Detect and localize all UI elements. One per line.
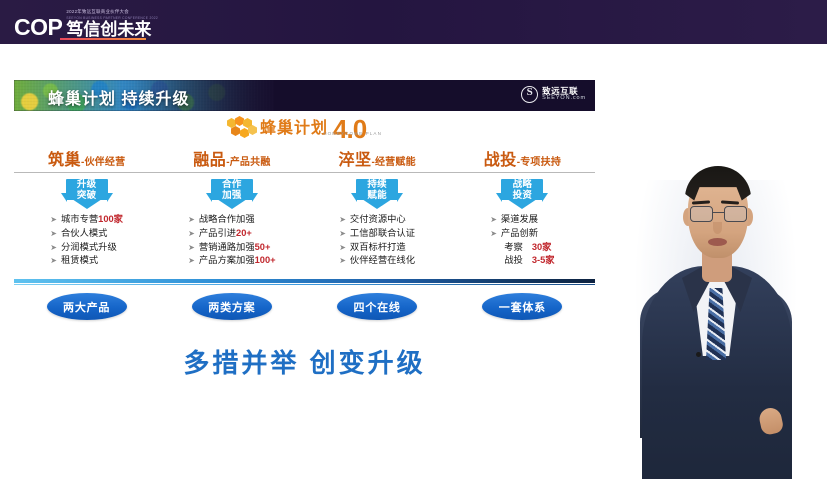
column-header-4-main: 战投 [484, 152, 517, 169]
seeyon-logo-text: 致远互联 SEEYON.com [542, 87, 586, 102]
chevron-bullet-icon: ➤ [188, 255, 195, 266]
bullet-list-3: ➤交付资源中心 ➤工信部联合认证 ➤双百标杆打造 ➤伙伴经营在线化 [339, 213, 415, 267]
badge-2-line2: 加强 [222, 190, 242, 201]
honeycomb-plan-title: 蜂巢计划 4.0 HONEYCOMB PLAN [14, 116, 595, 140]
bullet-text: 交付资源中心 [350, 213, 406, 226]
cop-logo: COP 2022年致远互联商业伙伴大会 SEEYON BUSINESS PART… [14, 9, 158, 39]
bullet-lists: ➤城市专营100家 ➤合伙人模式 ➤分润模式升级 ➤租赁模式 ➤战略合作加强 ➤… [14, 213, 595, 267]
bullet-text: 渠道发展 [501, 213, 538, 226]
blue-divider-bar [14, 279, 595, 283]
bullet-number: 50+ [255, 242, 271, 252]
column-header-4-sub: -专项扶持 [517, 157, 561, 168]
key-value-row: 考察30家 [490, 241, 554, 254]
list-item: ➤战略合作加强 [188, 213, 275, 226]
presenter-nose [713, 222, 722, 234]
bullet-text: 工信部联合认证 [350, 227, 415, 240]
column-header-2: 融品-产品共融 [159, 146, 304, 170]
pill-cell-2: 两类方案 [159, 293, 304, 320]
presenter-video-panel [600, 60, 827, 479]
badge-cell-4: 战略 投资 [450, 179, 595, 209]
list-item: ➤双百标杆打造 [339, 241, 415, 254]
list-item: ➤伙伴经营在线化 [339, 254, 415, 267]
kv-value: 30家 [532, 241, 552, 254]
badge-3-line1: 持续 [367, 179, 387, 190]
cop-logo-text: COP [14, 16, 62, 39]
chevron-bullet-icon: ➤ [188, 242, 195, 253]
list-item: ➤渠道发展 [490, 213, 554, 226]
bullet-text: 产品方案加强 [199, 255, 255, 265]
lapel-microphone-icon [696, 352, 701, 357]
badge-cell-1: 升级 突破 [14, 179, 159, 209]
bullet-text: 分润模式升级 [61, 242, 117, 252]
bullet-list-1: ➤城市专营100家 ➤合伙人模式 ➤分润模式升级 ➤租赁模式 [50, 213, 123, 267]
column-header-3-main: 淬坚 [338, 152, 371, 169]
bullet-text: 产品引进 [199, 228, 236, 238]
presenter-mouth [708, 238, 727, 246]
slide-banner-title: 蜂巢计划 持续升级 [48, 85, 189, 109]
badge-4-line2: 投资 [513, 190, 533, 201]
chevron-bullet-icon: ➤ [50, 228, 57, 239]
pill-summary-1[interactable]: 两大产品 [47, 293, 127, 320]
column-header-2-sub: -产品共融 [226, 157, 270, 168]
pill-cell-4: 一套体系 [450, 293, 595, 320]
bullet-text: 伙伴经营在线化 [350, 254, 415, 267]
badge-arrow-1: 升级 突破 [61, 179, 113, 209]
honeycomb-icon [227, 116, 257, 140]
cop-logo-cn: 笃信创未来 [66, 21, 158, 38]
bullet-list-cell-4: ➤渠道发展 ➤产品创新 考察30家 战投3-5家 [450, 213, 595, 267]
bullet-list-cell-1: ➤城市专营100家 ➤合伙人模式 ➤分润模式升级 ➤租赁模式 [14, 213, 159, 267]
bullet-list-cell-3: ➤交付资源中心 ➤工信部联合认证 ➤双百标杆打造 ➤伙伴经营在线化 [305, 213, 450, 267]
badge-2-text: 合作 加强 [206, 180, 258, 201]
badge-3-line2: 赋能 [367, 190, 387, 201]
seeyon-brand-en: SEEYON.com [542, 96, 586, 102]
bullet-text: 产品创新 [501, 227, 538, 240]
column-header-1-main: 筑巢 [48, 152, 81, 169]
chevron-bullet-icon: ➤ [490, 228, 497, 239]
bullet-list-4: ➤渠道发展 ➤产品创新 考察30家 战投3-5家 [490, 213, 554, 267]
column-header-2-main: 融品 [193, 152, 226, 169]
slide-presentation-view: COP 2022年致远互联商业伙伴大会 SEEYON BUSINESS PART… [0, 0, 827, 479]
seeyon-logo: 致远互联 SEEYON.com [521, 86, 586, 103]
pill-cell-1: 两大产品 [14, 293, 159, 320]
badge-3-text: 持续 赋能 [351, 180, 403, 201]
list-item: ➤分润模式升级 [50, 241, 123, 254]
badge-4-line1: 战略 [513, 179, 533, 190]
badge-1-text: 升级 突破 [61, 180, 113, 201]
pill-summary-2[interactable]: 两类方案 [192, 293, 272, 320]
bullet-text: 战略合作加强 [199, 214, 255, 224]
bullet-text: 双百标杆打造 [350, 241, 406, 254]
bullet-text: 合伙人模式 [61, 228, 108, 238]
badge-2-line1: 合作 [222, 179, 242, 190]
column-header-4: 战投-专项扶持 [450, 146, 595, 170]
slide-slogan: 多措并举 创变升级 [14, 343, 595, 380]
list-item: ➤营销通路加强50+ [188, 241, 275, 254]
badge-cell-2: 合作 加强 [159, 179, 304, 209]
chevron-bullet-icon: ➤ [339, 255, 346, 266]
kv-key: 考察 [504, 241, 523, 254]
badge-arrow-3: 持续 赋能 [351, 179, 403, 209]
conference-tagline-cn: 2022年致远互联商业伙伴大会 [66, 9, 158, 15]
pill-summary-3[interactable]: 四个在线 [337, 293, 417, 320]
chevron-bullet-icon: ➤ [339, 242, 346, 253]
pill-summary-4[interactable]: 一套体系 [482, 293, 562, 320]
badge-cell-3: 持续 赋能 [305, 179, 450, 209]
badge-1-line2: 突破 [77, 190, 97, 201]
slide-content: 蜂巢计划 持续升级 致远互联 SEEYON.com 蜂巢计划 4.0 HONEY… [14, 80, 595, 408]
badge-arrow-4: 战略 投资 [496, 179, 548, 209]
conference-topbar: COP 2022年致远互联商业伙伴大会 SEEYON BUSINESS PART… [0, 0, 827, 44]
list-item: ➤交付资源中心 [339, 213, 415, 226]
list-item: ➤产品引进20+ [188, 227, 275, 240]
chevron-bullet-icon: ➤ [188, 214, 195, 225]
badge-arrow-2: 合作 加强 [206, 179, 258, 209]
badge-row: 升级 突破 合作 加强 持续 [14, 179, 595, 209]
list-item: ➤产品方案加强100+ [188, 254, 275, 267]
column-header-3-sub: -经营赋能 [371, 157, 415, 168]
bullet-number: 100家 [98, 214, 123, 224]
list-item: ➤城市专营100家 [50, 213, 123, 226]
list-item: ➤合伙人模式 [50, 227, 123, 240]
key-value-row: 战投3-5家 [490, 254, 554, 267]
cop-logo-right: 2022年致远互联商业伙伴大会 SEEYON BUSINESS PARTNER … [66, 9, 158, 39]
bullet-text: 租赁模式 [61, 255, 98, 265]
badge-1-line1: 升级 [77, 179, 97, 190]
column-header-1-sub: -伙伴经营 [81, 157, 125, 168]
cop-logo-underline [60, 38, 146, 40]
bullet-text: 营销通路加强 [199, 242, 255, 252]
list-item: ➤租赁模式 [50, 254, 123, 267]
chevron-bullet-icon: ➤ [490, 214, 497, 225]
bullet-text: 城市专营 [61, 214, 98, 224]
list-item: ➤产品创新 [490, 227, 554, 240]
bullet-list-cell-2: ➤战略合作加强 ➤产品引进20+ ➤营销通路加强50+ ➤产品方案加强100+ [159, 213, 304, 267]
column-header-3: 淬坚-经营赋能 [305, 146, 450, 170]
seeyon-swirl-icon [521, 86, 538, 103]
bullet-list-2: ➤战略合作加强 ➤产品引进20+ ➤营销通路加强50+ ➤产品方案加强100+ [188, 213, 275, 267]
chevron-bullet-icon: ➤ [50, 214, 57, 225]
kv-value: 3-5家 [532, 254, 555, 267]
bullet-number: 20+ [236, 228, 252, 238]
header-divider-line [14, 172, 595, 173]
chevron-bullet-icon: ➤ [50, 242, 57, 253]
chevron-bullet-icon: ➤ [339, 214, 346, 225]
badge-4-text: 战略 投资 [496, 180, 548, 201]
chevron-bullet-icon: ➤ [188, 228, 195, 239]
chevron-bullet-icon: ➤ [50, 255, 57, 266]
slide-banner: 蜂巢计划 持续升级 致远互联 SEEYON.com [14, 80, 595, 111]
kv-key: 战投 [504, 254, 523, 267]
plan-title-en: HONEYCOMB PLAN [323, 131, 382, 140]
blue-divider-bar-thin [14, 284, 595, 285]
chevron-bullet-icon: ➤ [339, 228, 346, 239]
pill-row: 两大产品 两类方案 四个在线 一套体系 [14, 293, 595, 320]
column-header-1: 筑巢-伙伴经营 [14, 146, 159, 170]
list-item: ➤工信部联合认证 [339, 227, 415, 240]
plan-title-cn: 蜂巢计划 [260, 121, 328, 140]
column-headers: 筑巢-伙伴经营 融品-产品共融 淬坚-经营赋能 战投-专项扶持 [14, 146, 595, 170]
pill-cell-3: 四个在线 [305, 293, 450, 320]
bullet-number: 100+ [255, 255, 276, 265]
